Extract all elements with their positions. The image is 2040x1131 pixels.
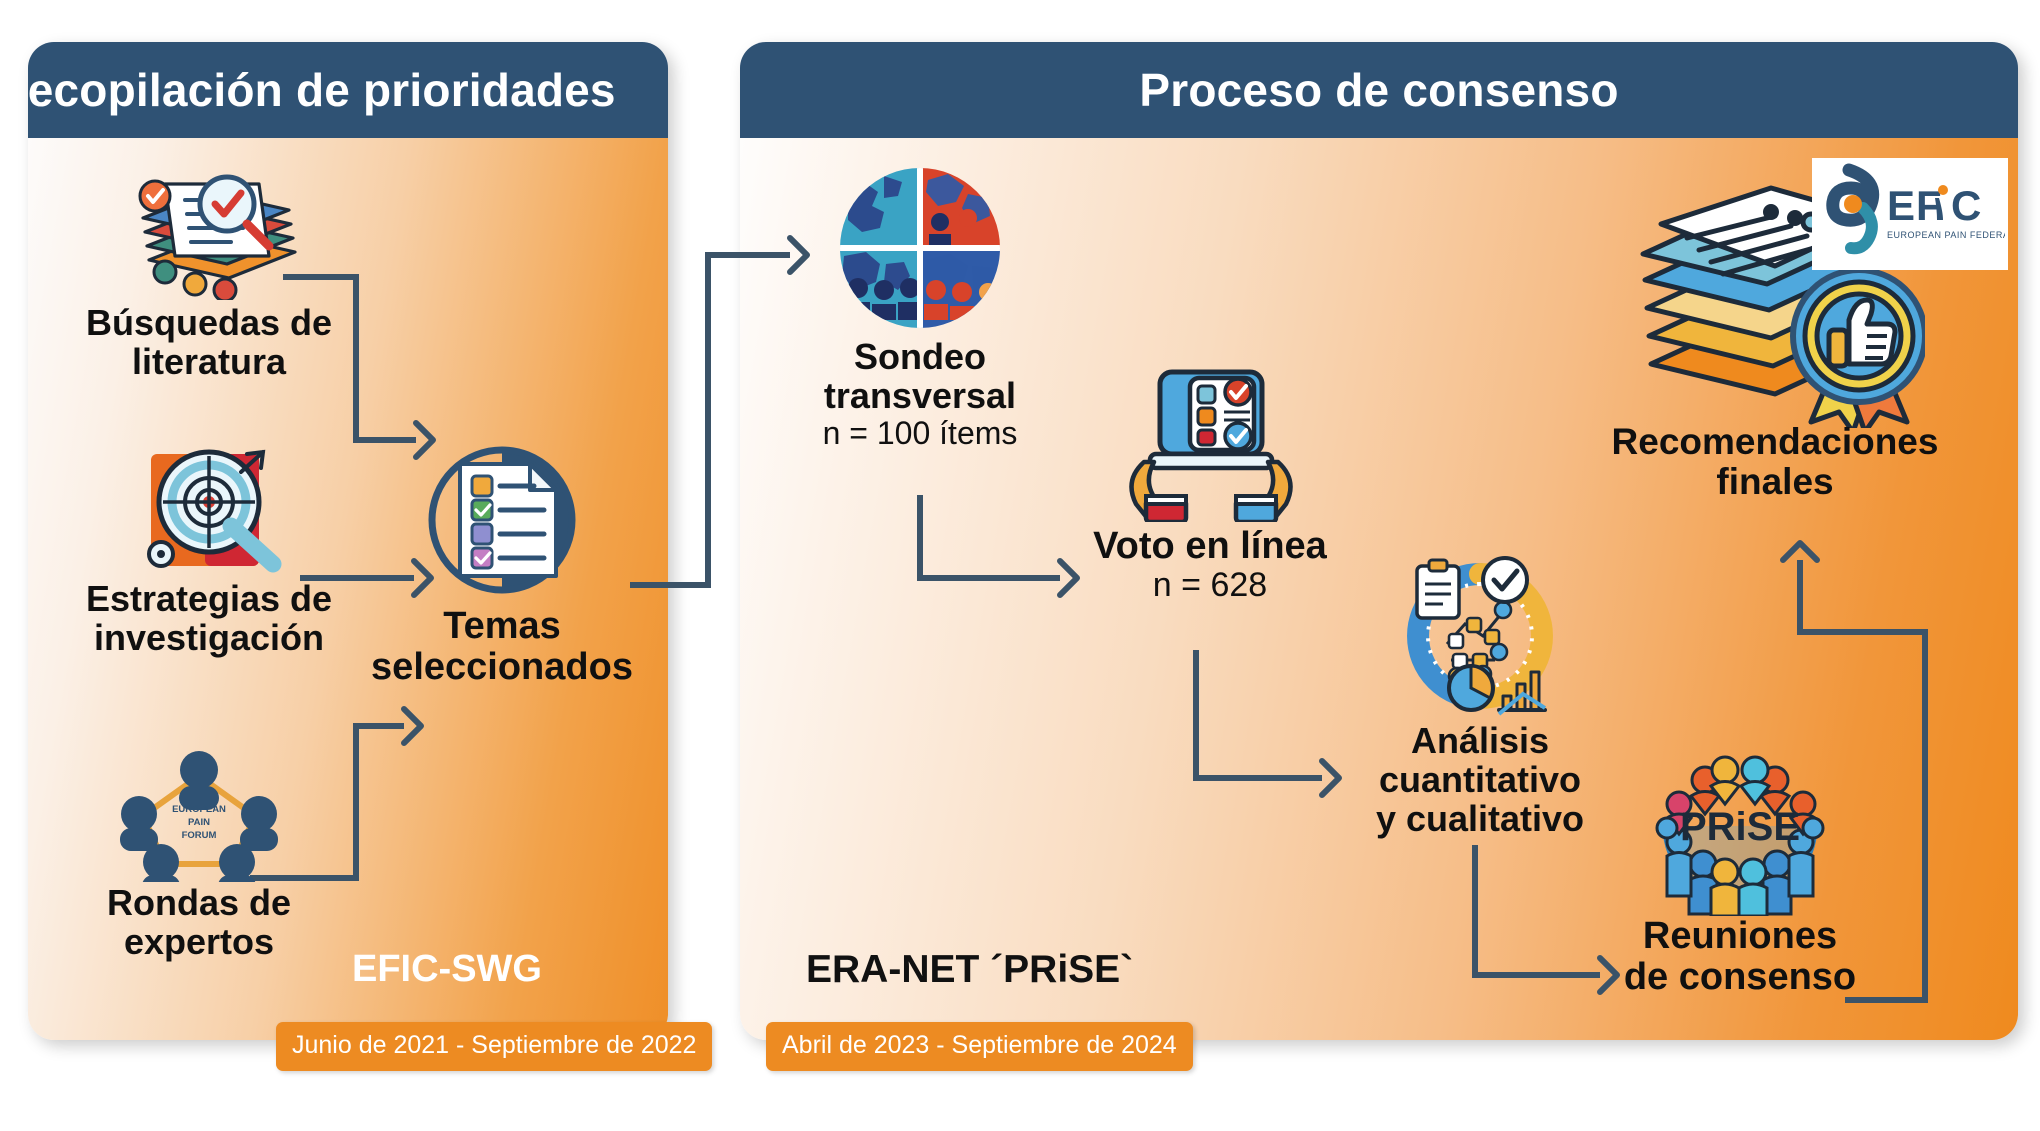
date-chip-left: Junio de 2021 - Septiembre de 2022	[276, 1022, 712, 1071]
node-survey-label: Sondeo transversal	[800, 338, 1040, 416]
node-selected-topics: Temas seleccionados	[352, 436, 652, 688]
analysis-cycle-icon	[1330, 548, 1630, 720]
efic-logo-subtitle: EUROPEAN PAIN FEDERATION	[1887, 230, 2005, 240]
node-cross-sectional-survey: Sondeo transversal n = 100 ítems	[800, 160, 1040, 451]
target-magnifier-icon	[44, 436, 374, 576]
efic-logo: EF C EUROPEAN PAIN FEDERATION	[1812, 158, 2008, 270]
node-vote-subtext: n = 628	[1060, 567, 1360, 604]
european-pain-forum-icon: EUROPEANPAINFORUM	[44, 742, 354, 882]
node-vote-label: Voto en línea	[1060, 526, 1360, 567]
date-chip-right: Abril de 2023 - Septiembre de 2024	[766, 1022, 1193, 1071]
diagram-canvas: Recopilación de prioridades Proceso de c…	[0, 0, 2040, 1131]
panel-right-header: Proceso de consenso	[740, 42, 2018, 138]
node-literature-searches: Búsquedas de literatura	[44, 160, 374, 382]
node-meetings-label: Reuniones de consenso	[1590, 916, 1890, 998]
node-online-vote: Voto en línea n = 628	[1060, 362, 1360, 604]
node-expert-label: Rondas de expertos	[44, 884, 354, 962]
node-quantitative-qualitative-analysis: Análisis cuantitativo y cualitativo	[1330, 548, 1630, 839]
node-survey-subtext: n = 100 ítems	[800, 416, 1040, 451]
svg-text:EF: EF	[1887, 182, 1943, 229]
panel-left-title: Recopilación de prioridades	[28, 63, 616, 117]
prise-people-icon: PRiSE	[1590, 738, 1890, 916]
node-analysis-label: Análisis cuantitativo y cualitativo	[1330, 722, 1630, 839]
node-literature-label: Búsquedas de literatura	[44, 304, 374, 382]
panel-right-title: Proceso de consenso	[1139, 63, 1618, 117]
svg-text:PRiSE: PRiSE	[1680, 805, 1800, 849]
node-research-strategies: Estrategias de investigación	[44, 436, 374, 658]
svg-text:C: C	[1951, 182, 1981, 229]
node-recommend-label: Recomendaciones finales	[1600, 422, 1950, 502]
node-expert-rounds: EUROPEANPAINFORUM Rondas de expertos	[44, 742, 354, 962]
node-strategies-label: Estrategias de investigación	[44, 580, 374, 658]
project-tag-right: ERA-NET ´PRiSE`	[806, 948, 1133, 992]
svg-text:FORUM: FORUM	[182, 830, 217, 841]
globe-survey-icon	[800, 160, 1040, 336]
node-consensus-meetings: PRiSE Reuniones de consenso	[1590, 738, 1890, 998]
svg-text:EUROPEAN: EUROPEAN	[172, 804, 226, 815]
online-vote-icon	[1060, 362, 1360, 522]
panel-left-header: Recopilación de prioridades	[28, 42, 668, 138]
selected-topics-icon	[352, 436, 652, 604]
svg-text:PAIN: PAIN	[188, 817, 210, 828]
documents-checklist-icon	[44, 160, 374, 300]
node-topics-label: Temas seleccionados	[352, 606, 652, 688]
project-tag-left: EFIC-SWG	[352, 948, 542, 991]
